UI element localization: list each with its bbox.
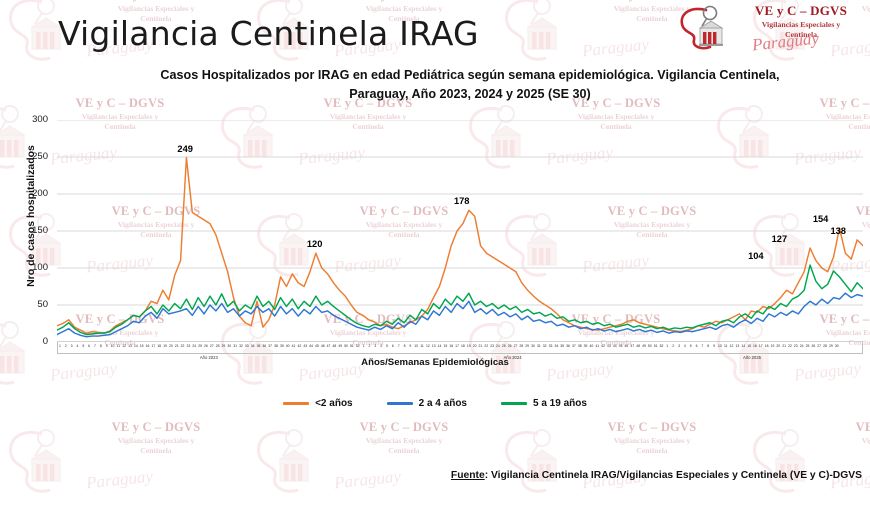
chart-container: Nro de casos hospitalizados 050100150200… [0, 105, 870, 370]
y-axis-title: Nro de casos hospitalizados [25, 101, 37, 331]
watermark-figure-icon [746, 424, 820, 505]
data-point-label: 120 [307, 239, 323, 249]
x-axis-tick-labels: 1234567891011121314151617181920212223242… [57, 344, 863, 355]
logo: VE y C – DGVS Vigilancias Especiales y C… [676, 2, 866, 54]
watermark-line2: Vigilancias Especiales y [562, 436, 742, 445]
watermark-text: VE y C – DGVSVigilancias Especiales yCen… [562, 420, 742, 455]
watermark-country: Paraguay [581, 35, 650, 62]
logo-line1: VE y C – DGVS [736, 3, 866, 19]
watermark-figure-icon [498, 424, 572, 505]
watermark-line3: Centinela [810, 446, 870, 455]
x-axis-year-label: Año 2023 [179, 355, 239, 360]
y-axis-tick-label: 0 [12, 336, 48, 347]
slide-page: VE y C – DGVSVigilancias Especiales yCen… [0, 0, 870, 505]
watermark-line1: VE y C – DGVS [66, 0, 246, 3]
page-title: Vigilancia Centinela IRAG [58, 14, 479, 53]
data-point-label: 127 [772, 234, 788, 244]
watermark-line1: VE y C – DGVS [810, 420, 870, 435]
watermark-line2: Vigilancias Especiales y [314, 436, 494, 445]
watermark-line2: Vigilancias Especiales y [66, 436, 246, 445]
watermark-line2: Vigilancias Especiales y [810, 436, 870, 445]
data-point-label: 178 [454, 196, 470, 206]
watermark-line3: Centinela [562, 446, 742, 455]
watermark-line2: Vigilancias Especiales y [314, 4, 494, 13]
data-point-label: 104 [748, 251, 764, 261]
watermark-text: VE y C – DGVSVigilancias Especiales yCen… [66, 420, 246, 455]
legend-label: <2 años [315, 398, 353, 409]
x-axis-year-label: Año 2025 [722, 355, 782, 360]
logo-line2: Vigilancias Especiales y [736, 20, 866, 29]
watermark-line3: Centinela [66, 446, 246, 455]
x-axis-year-label: Año 2024 [483, 355, 543, 360]
watermark-tile: VE y C – DGVSVigilancias Especiales yCen… [0, 418, 248, 505]
data-point-label: 138 [830, 226, 846, 236]
legend-swatch [387, 402, 413, 405]
watermark-tile: VE y C – DGVSVigilancias Especiales yCen… [248, 418, 496, 505]
series-line [57, 265, 863, 335]
legend-swatch [501, 402, 527, 405]
chart-legend: <2 años2 a 4 años5 a 19 años [0, 398, 870, 409]
chart-title-line2: Paraguay, Año 2023, 2024 y 2025 (SE 30) [120, 85, 820, 104]
watermark-line1: VE y C – DGVS [66, 420, 246, 435]
watermark-line1: VE y C – DGVS [314, 0, 494, 3]
watermark-tile: VE y C – DGVSVigilancias Especiales yCen… [496, 418, 744, 505]
watermark-tile: VE y C – DGVSVigilancias Especiales yCen… [744, 418, 870, 505]
legend-item[interactable]: 2 a 4 años [387, 398, 467, 409]
watermark-line1: VE y C – DGVS [314, 420, 494, 435]
watermark-figure-icon [250, 424, 324, 505]
legend-label: 2 a 4 años [419, 398, 467, 409]
x-axis-tick-label: 30 [834, 344, 840, 348]
watermark-text: VE y C – DGVSVigilancias Especiales yCen… [810, 420, 870, 455]
legend-label: 5 a 19 años [533, 398, 587, 409]
watermark-line2: Vigilancias Especiales y [66, 4, 246, 13]
watermark-text: VE y C – DGVSVigilancias Especiales yCen… [314, 420, 494, 455]
data-point-label: 154 [813, 214, 829, 224]
source-footer: Fuente: Vigilancia Centinela IRAG/Vigila… [0, 470, 862, 481]
chart-title: Casos Hospitalizados por IRAG en edad Pe… [120, 66, 820, 104]
source-text: : Vigilancia Centinela IRAG/Vigilancias … [485, 470, 862, 481]
watermark-line3: Centinela [314, 446, 494, 455]
chart-title-line1: Casos Hospitalizados por IRAG en edad Pe… [120, 66, 820, 85]
logo-figure-icon [676, 4, 738, 52]
legend-swatch [283, 402, 309, 405]
data-point-label: 249 [177, 144, 193, 154]
watermark-figure-icon [2, 424, 76, 505]
watermark-line1: VE y C – DGVS [562, 420, 742, 435]
legend-item[interactable]: 5 a 19 años [501, 398, 587, 409]
legend-item[interactable]: <2 años [283, 398, 353, 409]
source-label: Fuente [451, 470, 485, 481]
